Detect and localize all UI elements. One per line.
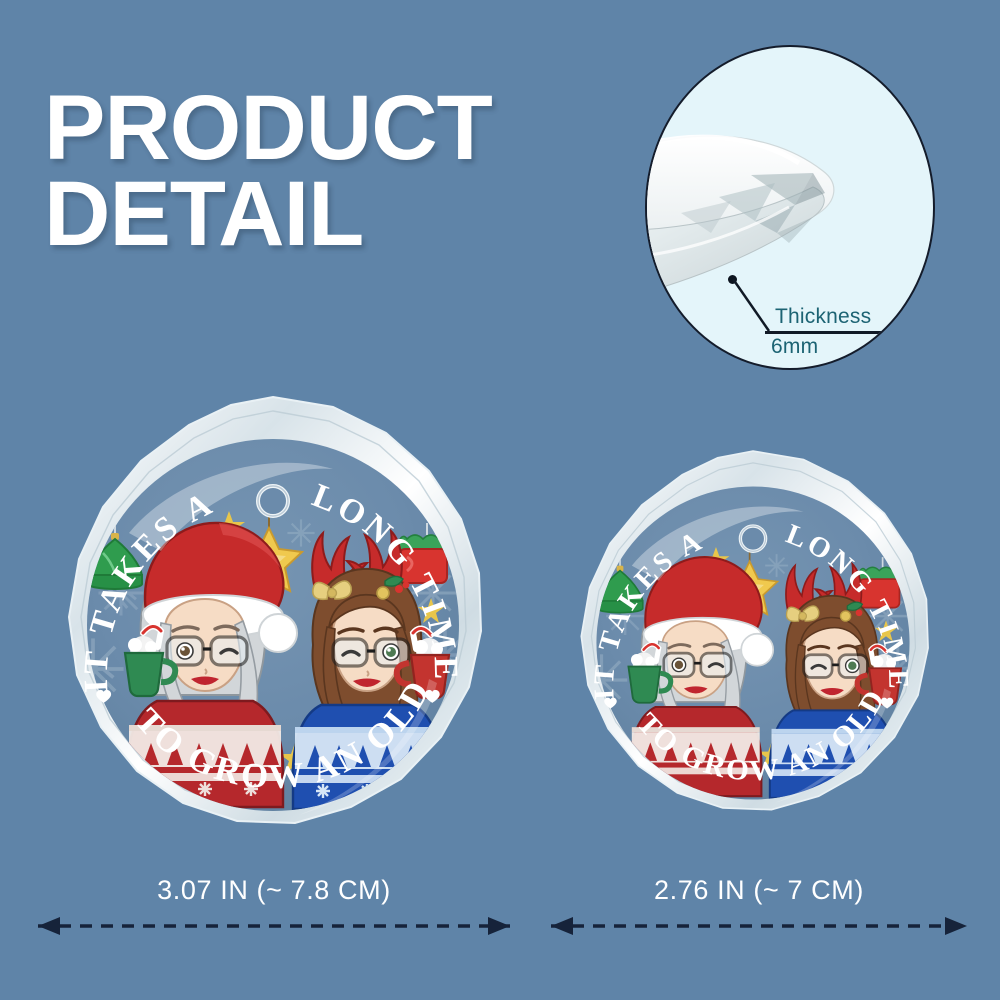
hanging-hole [740,526,765,551]
ornament-small-graphic: IT TAKES A LONG TIME TO GROW AN OLD FRIE… [551,438,955,848]
page-title-line-2: DETAIL [44,172,492,258]
thickness-label: Thickness [775,305,871,329]
thickness-value: 6mm [771,335,818,359]
dimension-arrow-small [533,915,985,937]
ornament-preview-small[interactable]: IT TAKES A LONG TIME TO GROW AN OLD FRIE… [551,438,955,848]
page-title: PRODUCT DETAIL [44,86,492,257]
dimension-arrow-large [18,915,530,937]
thickness-underline [765,331,927,334]
dimension-group-small: 2.76 IN (~ 7 CM) [533,875,985,937]
product-detail-canvas: PRODUCT DETAIL [0,0,1000,1000]
ornament-preview-large[interactable]: IT TAKES A LONG TIME TO GROW AN OLD FRIE… [33,383,513,867]
ornament-large-graphic: IT TAKES A LONG TIME TO GROW AN OLD FRIE… [33,383,513,867]
dimension-label-small: 2.76 IN (~ 7 CM) [533,875,985,906]
hanging-hole [258,486,288,516]
dimension-group-large: 3.07 IN (~ 7.8 CM) [18,875,530,937]
thickness-callout-circle: Thickness 6mm [645,45,935,370]
dimension-label-large: 3.07 IN (~ 7.8 CM) [18,875,530,906]
